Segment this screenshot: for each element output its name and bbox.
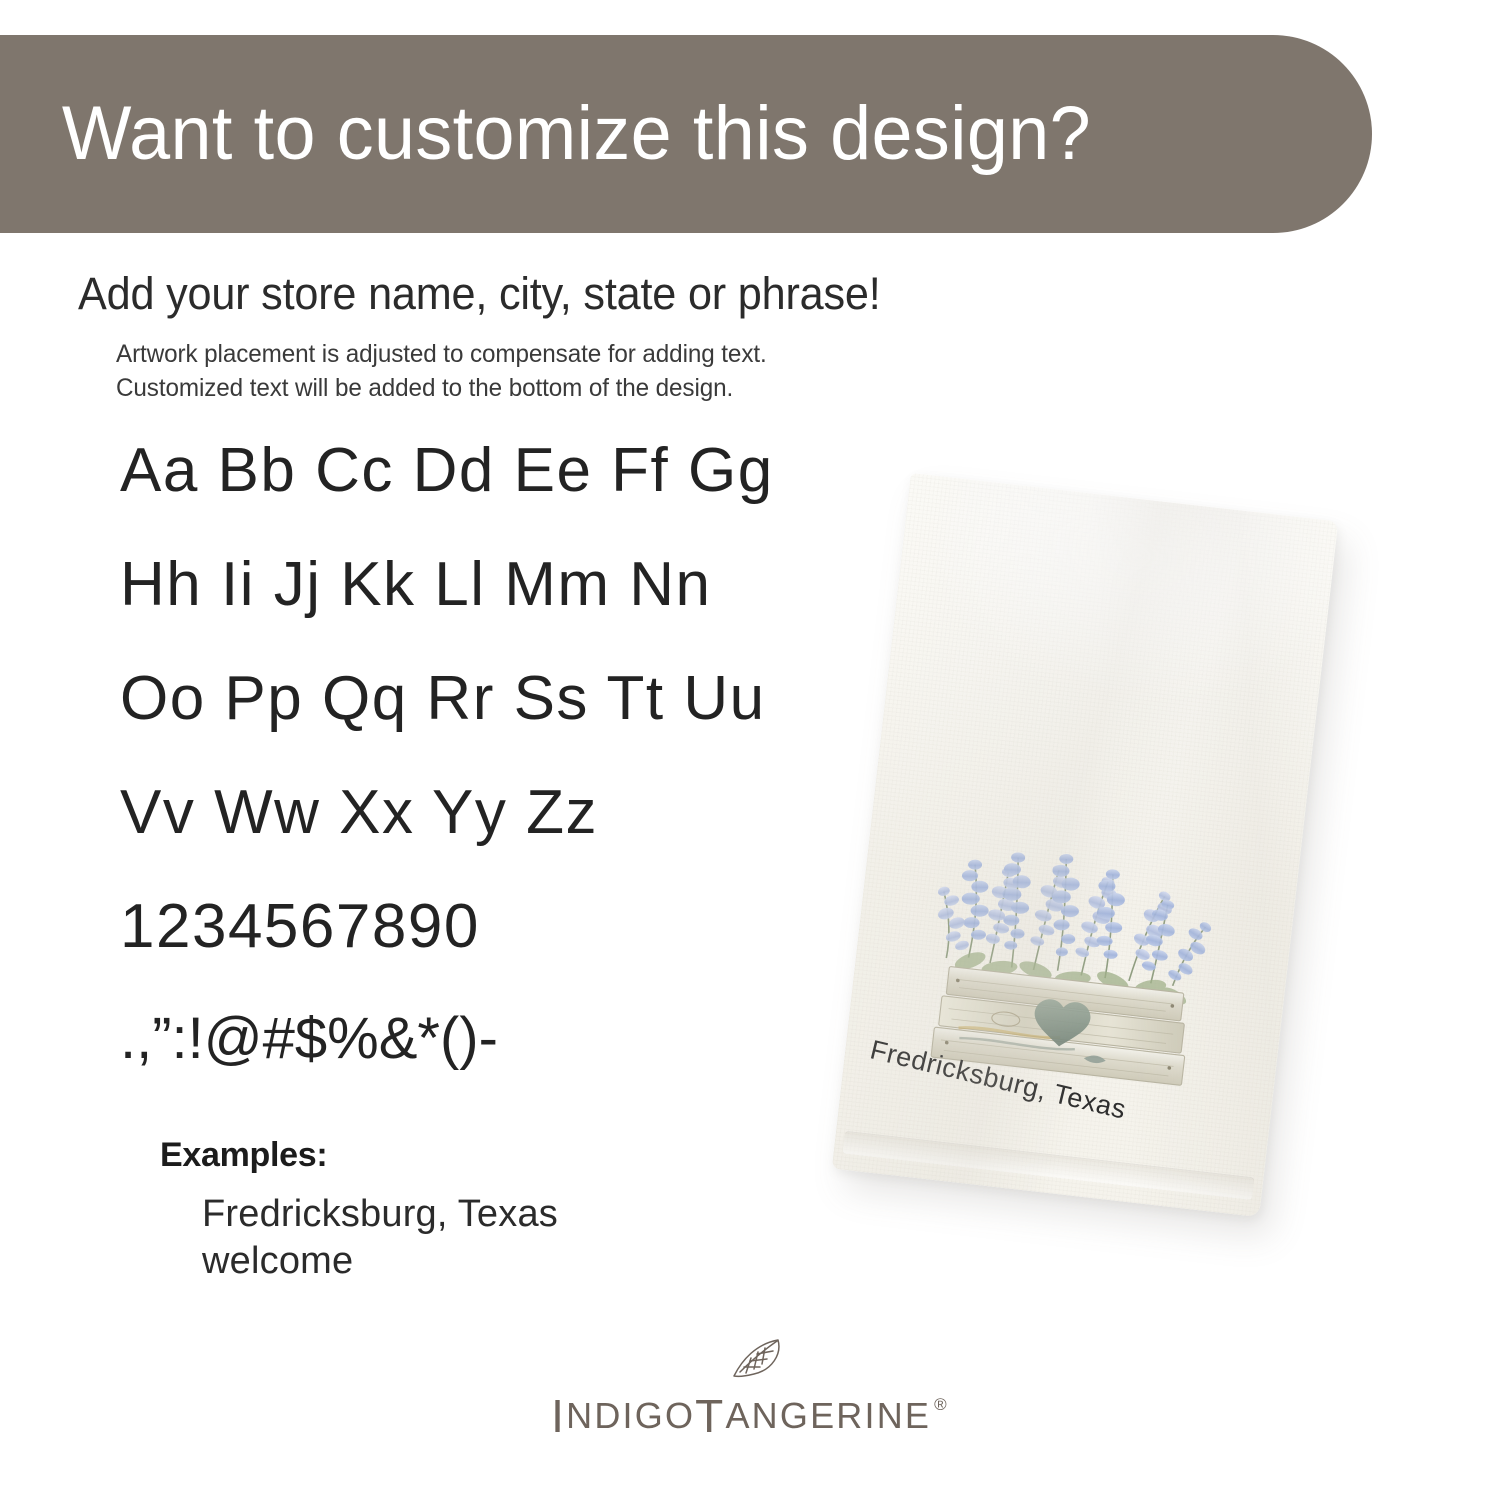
logo-tangerine-rest: ANGERINE — [725, 1394, 931, 1439]
logo-indigo-rest: NDIGO — [566, 1394, 695, 1439]
registered-trademark-icon: ® — [934, 1396, 949, 1413]
examples-list: Fredricksburg, Texas welcome — [202, 1191, 558, 1284]
specimen-row-3: Oo Pp Qq Rr Ss Tt Uu — [120, 668, 840, 730]
logo-indigo-cap: I — [551, 1394, 566, 1438]
lead-instruction: Add your store name, city, state or phra… — [78, 268, 881, 320]
note-line-1: Artwork placement is adjusted to compens… — [116, 338, 767, 372]
tea-towel-image: Fredricksburg, Texas — [752, 455, 1452, 1285]
notes-block: Artwork placement is adjusted to compens… — [116, 338, 767, 406]
specimen-row-1: Aa Bb Cc Dd Ee Ff Gg — [120, 440, 840, 502]
header-banner: Want to customize this design? — [0, 35, 1372, 233]
specimen-row-numerals: 1234567890 — [120, 896, 840, 958]
promo-page: Want to customize this design? Add your … — [0, 0, 1500, 1500]
specimen-row-2: Hh Ii Jj Kk Ll Mm Nn — [120, 554, 840, 616]
towel-hem — [842, 1131, 1255, 1201]
note-line-2: Customized text will be added to the bot… — [116, 372, 767, 406]
specimen-row-4: Vv Ww Xx Yy Zz — [120, 782, 840, 844]
examples-label: Examples: — [160, 1136, 558, 1175]
specimen-row-symbols: .,”:!@#$%&*()- — [120, 1010, 840, 1068]
tea-towel-fabric: Fredricksburg, Texas — [832, 473, 1338, 1217]
example-item: welcome — [202, 1238, 558, 1285]
examples-block: Examples: Fredricksburg, Texas welcome — [160, 1136, 558, 1284]
product-photo: Fredricksburg, Texas — [752, 455, 1452, 1285]
leaf-icon — [730, 1336, 786, 1380]
brand-wordmark: I NDIGO T ANGERINE ® — [551, 1394, 949, 1439]
font-specimen: Aa Bb Cc Dd Ee Ff Gg Hh Ii Jj Kk Ll Mm N… — [120, 440, 840, 1102]
brand-logo: I NDIGO T ANGERINE ® — [0, 1336, 1500, 1439]
logo-tangerine-cap: T — [695, 1394, 725, 1438]
example-item: Fredricksburg, Texas — [202, 1191, 558, 1238]
page-title: Want to customize this design? — [0, 96, 1091, 172]
